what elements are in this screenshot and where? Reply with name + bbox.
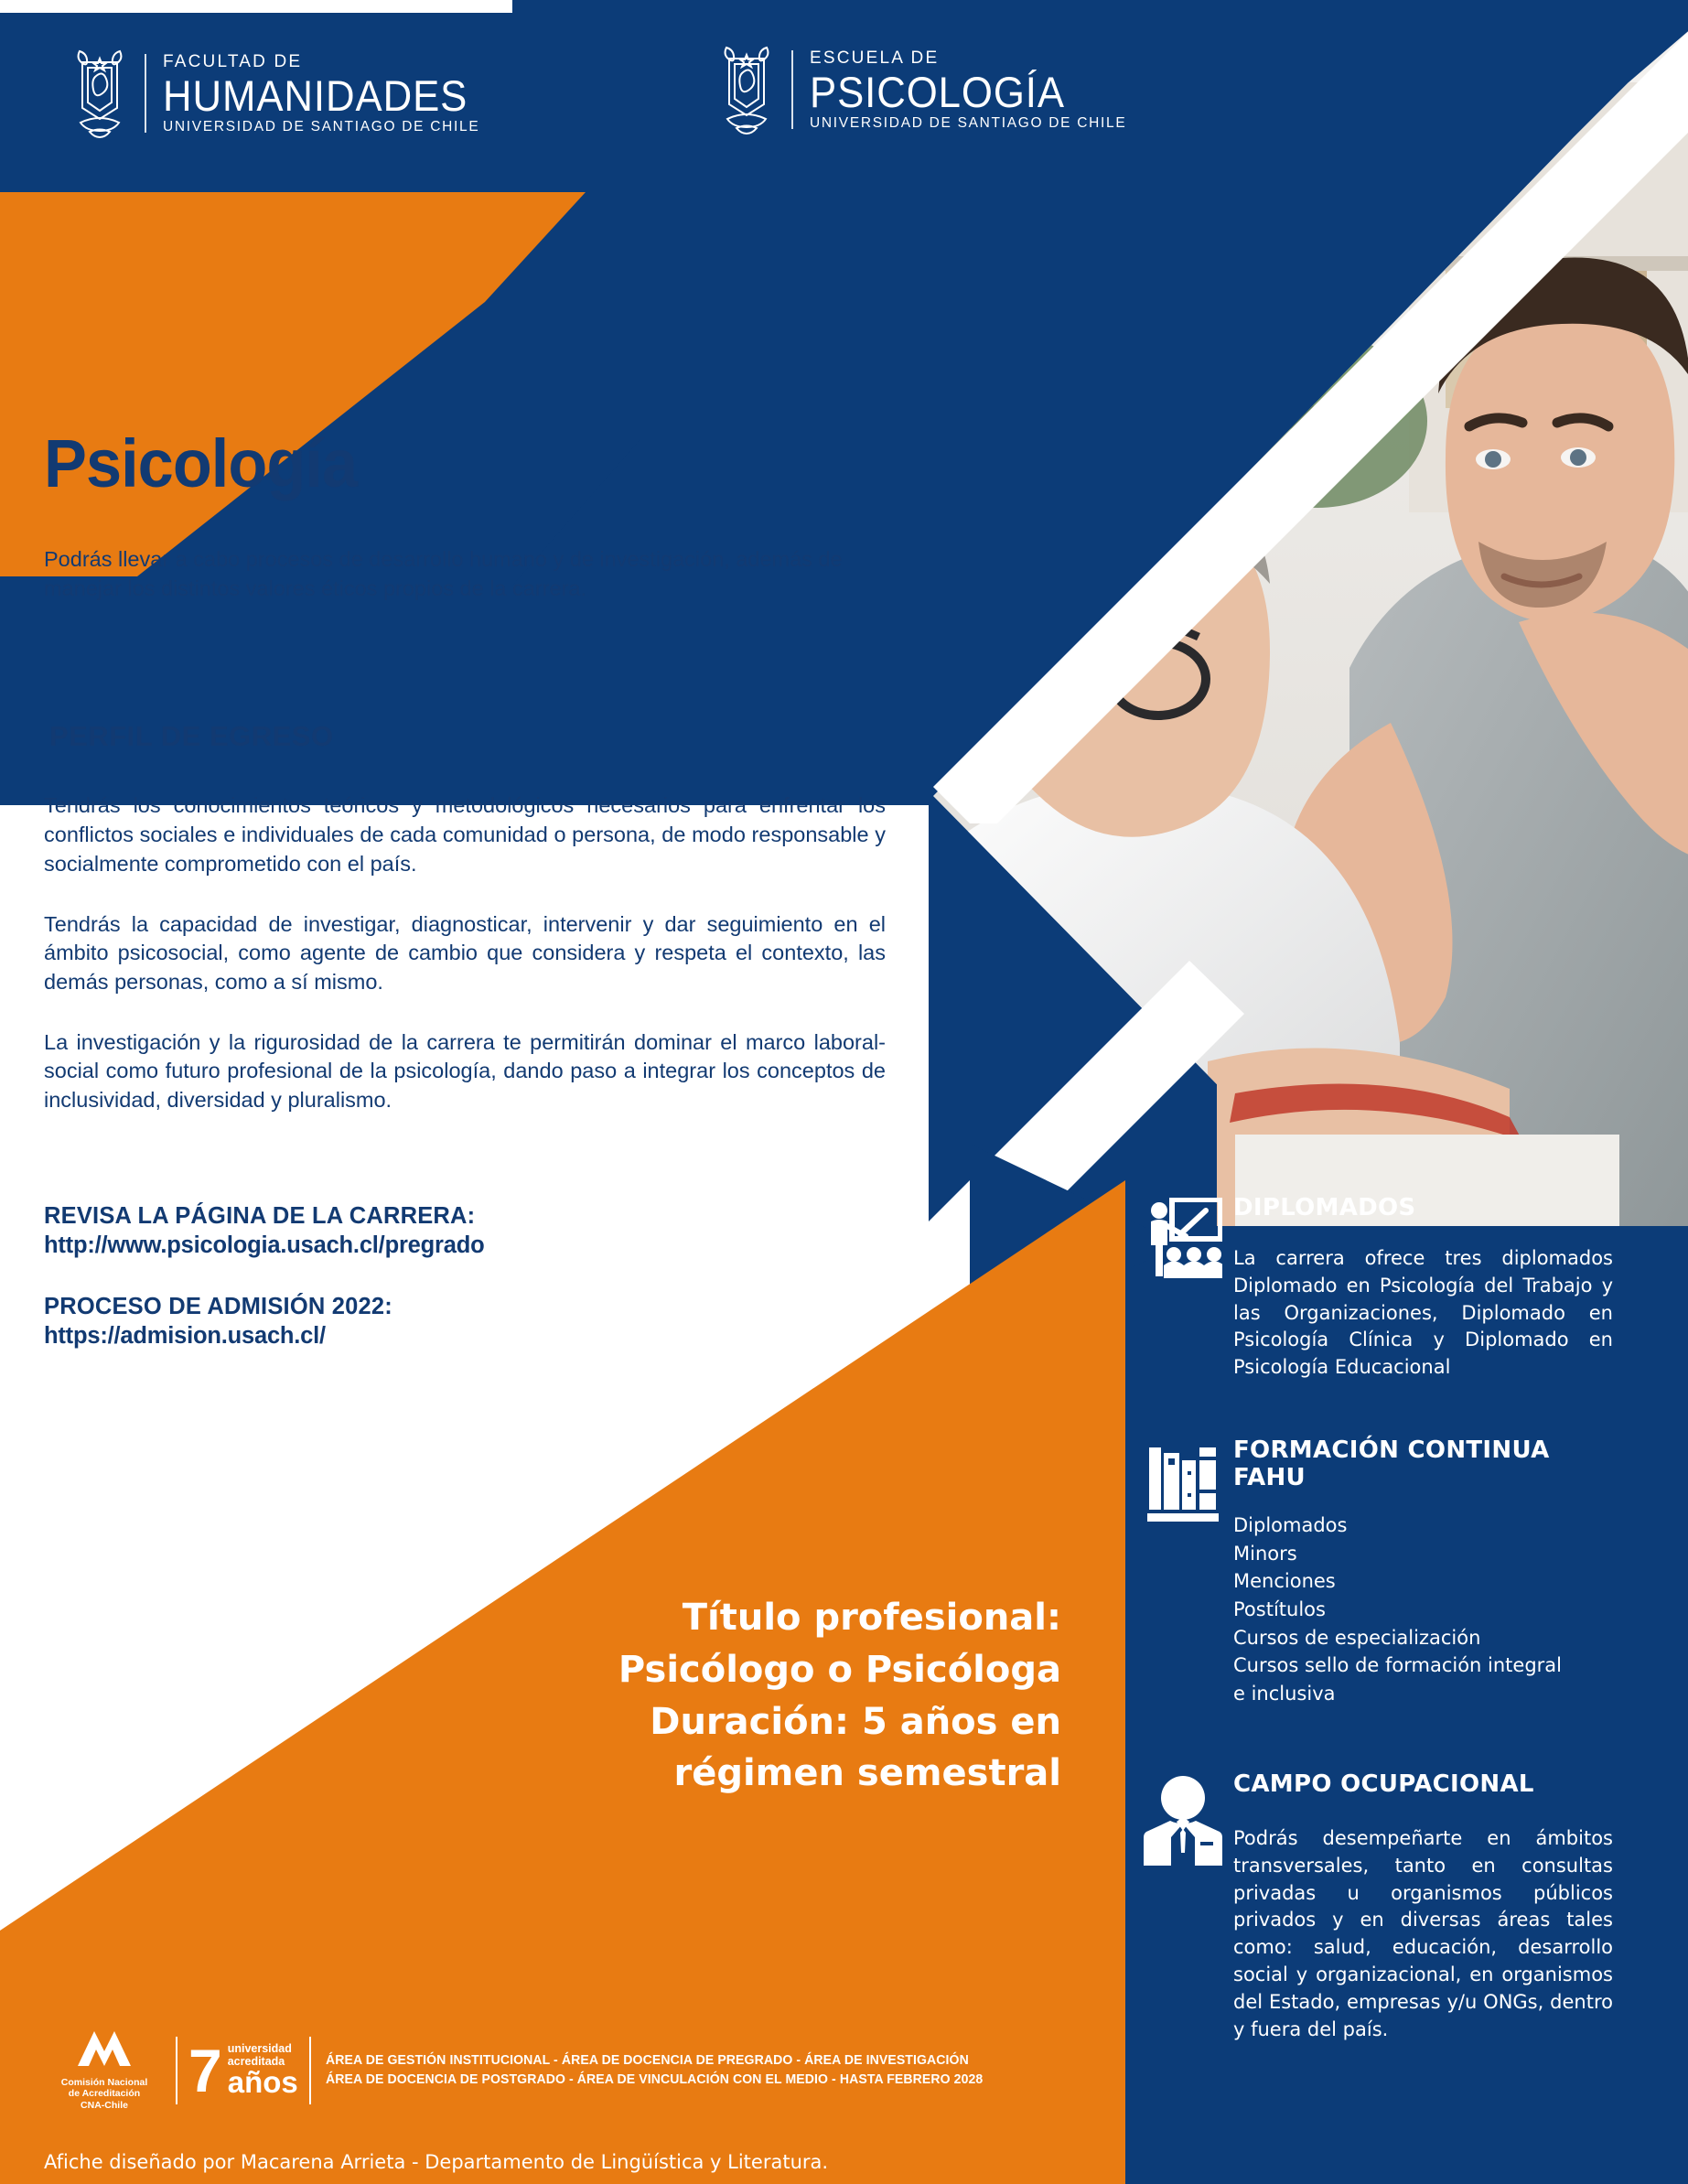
cna-caption-line1: Comisión Nacional — [44, 2077, 165, 2088]
info-title-diplomados: DIPLOMADOS — [1233, 1194, 1613, 1221]
list-item: Diplomados — [1233, 1512, 1613, 1540]
info-block-campo-ocupacional: CAMPO OCUPACIONAL Podrás desempeñarte en… — [1133, 1770, 1613, 2044]
years-word-anos: años — [228, 2069, 298, 2096]
list-item: Minors — [1233, 1540, 1613, 1568]
years-words: universidad acreditada años — [228, 2043, 298, 2096]
info-text-diplomados: La carrera ofrece tres diplomados Diplom… — [1233, 1245, 1613, 1382]
titulo-line-1: Título profesional: — [586, 1592, 1061, 1644]
footer-divider — [309, 2037, 311, 2104]
areas-line-1: ÁREA DE GESTIÓN INSTITUCIONAL - ÁREA DE … — [326, 2051, 983, 2071]
footer: Comisión Nacional de Acreditación CNA-Ch… — [44, 2029, 1087, 2173]
list-item: Postítulos — [1233, 1596, 1613, 1624]
list-item: Cursos de especialización — [1233, 1624, 1613, 1652]
accreditation-years: 7 universidad acreditada años — [188, 2043, 298, 2096]
career-page-label: REVISA LA PÁGINA DE LA CARRERA: — [44, 1203, 904, 1230]
logo-escuela-psicologia: ESCUELA DE PSICOLOGÍA UNIVERSIDAD DE SAN… — [718, 40, 1126, 139]
main-content-column: Psicología Podrás llevar a cabo procesos… — [44, 430, 904, 1350]
career-page-link[interactable]: http://www.psicologia.usach.cl/pregrado — [44, 1232, 904, 1259]
info-title-formacion-continua: FORMACIÓN CONTINUA FAHU — [1233, 1436, 1613, 1491]
accreditation-areas: ÁREA DE GESTIÓN INSTITUCIONAL - ÁREA DE … — [322, 2051, 1004, 2090]
titulo-line-4: régimen semestral — [586, 1748, 1061, 1800]
titulo-line-2: Psicólogo o Psicóloga — [586, 1644, 1061, 1696]
list-item: Cursos sello de formación integral — [1233, 1651, 1613, 1680]
usach-crest-icon — [718, 40, 775, 139]
logo-left-line1: FACULTAD DE — [163, 53, 490, 70]
cna-monogram-icon — [44, 2029, 165, 2075]
usach-crest-icon — [71, 44, 128, 143]
titulo-profesional-block: Título profesional: Psicólogo o Psicólog… — [586, 1592, 1061, 1800]
accreditation-row: Comisión Nacional de Acreditación CNA-Ch… — [44, 2029, 1087, 2111]
poster-page: FACULTAD DE HUMANIDADES UNIVERSIDAD DE S… — [0, 0, 1688, 2184]
designer-credit: Afiche diseñado por Macarena Arrieta - D… — [44, 2151, 1087, 2173]
links-block: REVISA LA PÁGINA DE LA CARRERA: http://w… — [44, 1203, 904, 1350]
areas-line-2: ÁREA DE DOCENCIA DE POSTGRADO - ÁREA DE … — [326, 2071, 983, 2090]
presenter-whiteboard-icon — [1133, 1194, 1233, 1382]
cna-caption: Comisión Nacional de Acreditación CNA-Ch… — [44, 2077, 165, 2111]
admission-link[interactable]: https://admision.usach.cl/ — [44, 1323, 904, 1350]
cna-logo: Comisión Nacional de Acreditación CNA-Ch… — [44, 2029, 165, 2111]
list-item: e inclusiva — [1233, 1680, 1613, 1708]
logo-right-line3: UNIVERSIDAD DE SANTIAGO DE CHILE — [810, 116, 1126, 131]
years-number: 7 — [188, 2045, 222, 2096]
titulo-line-3: Duración: 5 años en — [586, 1696, 1061, 1748]
logo-left-line3: UNIVERSIDAD DE SANTIAGO DE CHILE — [163, 120, 490, 134]
years-word-universidad: universidad — [228, 2043, 298, 2056]
perfil-paragraph-1: Tendrás los conocimientos teóricos y met… — [44, 791, 886, 878]
logo-divider — [145, 54, 146, 133]
cna-caption-line2: de Acreditación — [44, 2088, 165, 2099]
info-text-campo-ocupacional: Podrás desempeñarte en ámbitos transvers… — [1233, 1825, 1613, 2044]
footer-divider — [176, 2037, 177, 2104]
white-corner-notch — [0, 0, 512, 13]
perfil-paragraph-3: La investigación y la rigurosidad de la … — [44, 1028, 886, 1115]
logo-divider — [791, 50, 793, 129]
professional-person-icon — [1133, 1770, 1233, 2044]
logo-left-line2: HUMANIDADES — [163, 74, 468, 117]
logo-facultad-humanidades: FACULTAD DE HUMANIDADES UNIVERSIDAD DE S… — [71, 44, 490, 143]
info-title-campo-ocupacional: CAMPO OCUPACIONAL — [1233, 1770, 1613, 1798]
admission-label: PROCESO DE ADMISIÓN 2022: — [44, 1294, 904, 1320]
perfil-paragraph-2: Tendrás la capacidad de investigar, diag… — [44, 910, 886, 997]
links-spacer — [44, 1259, 904, 1294]
cna-caption-line3: CNA-Chile — [44, 2100, 165, 2111]
intro-paragraph: Podrás llevar a cabo procesos de desarro… — [44, 545, 886, 603]
list-item: Menciones — [1233, 1567, 1613, 1596]
logo-right-line1: ESCUELA DE — [810, 49, 1126, 67]
section-heading-perfil-egreso: PERFIL DE EGRESO — [49, 720, 904, 753]
info-block-diplomados: DIPLOMADOS La carrera ofrece tres diplom… — [1133, 1194, 1613, 1382]
logo-right-line2: PSICOLOGÍA — [810, 70, 1104, 113]
books-shelf-icon — [1133, 1436, 1233, 1708]
formacion-continua-list: Diplomados Minors Menciones Postítulos C… — [1233, 1512, 1613, 1708]
page-title: Psicología — [44, 430, 861, 498]
info-block-formacion-continua: FORMACIÓN CONTINUA FAHU Diplomados Minor… — [1133, 1436, 1613, 1708]
